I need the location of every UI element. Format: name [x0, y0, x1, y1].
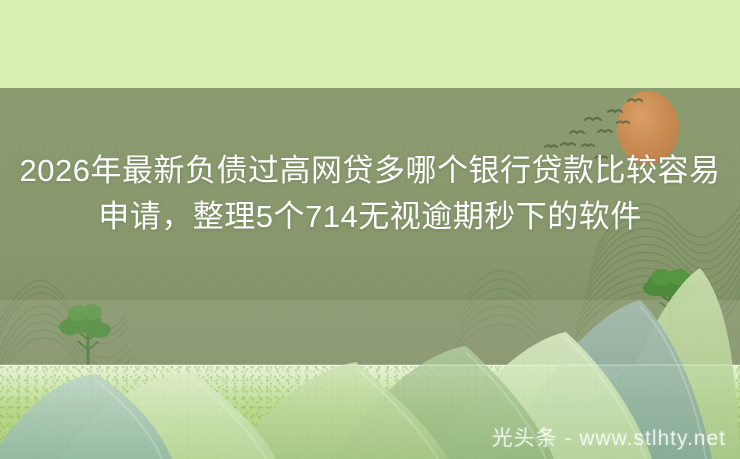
watermark: 光头条 - www.stlhty.net	[492, 428, 726, 449]
page-title: 2026年最新负债过高网贷多哪个银行贷款比较容易申请，整理5个714无视逾期秒下…	[0, 148, 740, 240]
cover-image: 2026年最新负债过高网贷多哪个银行贷款比较容易申请，整理5个714无视逾期秒下…	[0, 0, 740, 459]
sky-band	[0, 0, 740, 88]
